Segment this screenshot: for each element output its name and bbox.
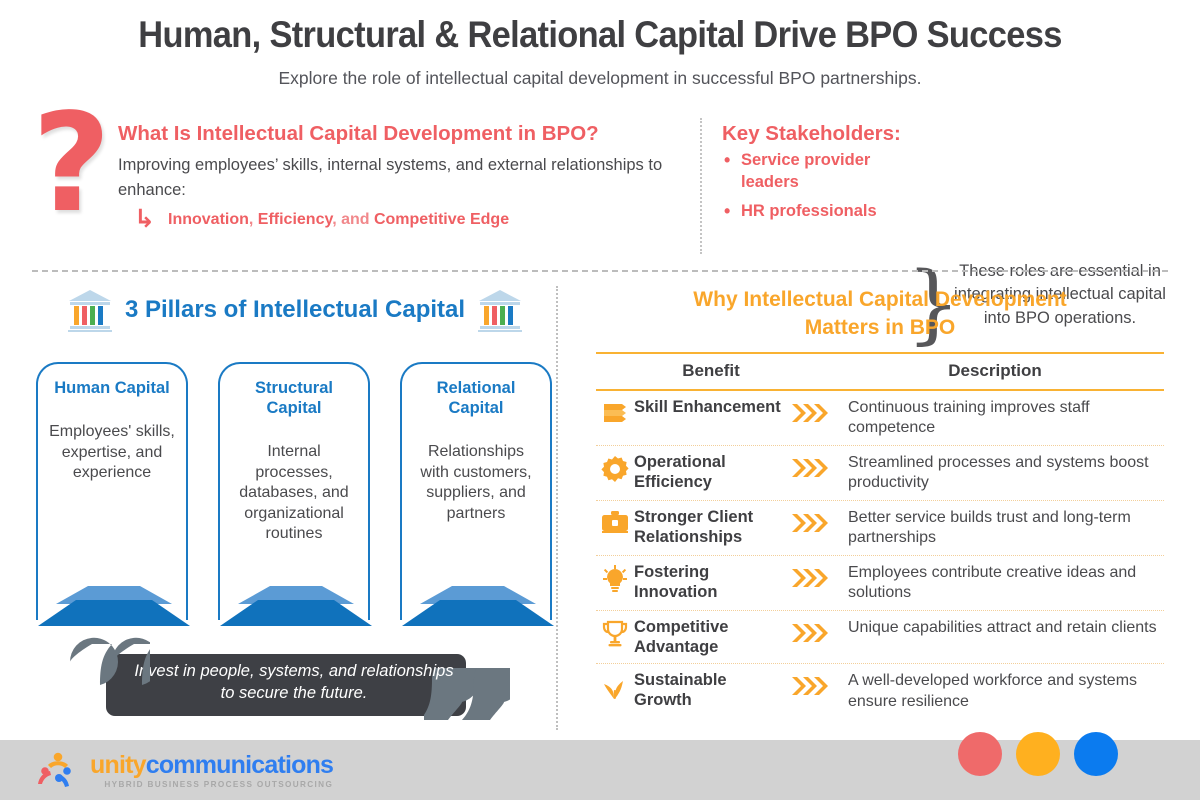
column-header-description: Description <box>948 361 1042 380</box>
pillar-card-structural[interactable]: Structural Capital Internal processes, d… <box>218 362 370 620</box>
quote-text: Invest in people, systems, and relations… <box>134 660 454 705</box>
outcome-sep-1: , <box>249 211 258 228</box>
pillar-body: Internal processes, databases, and organ… <box>230 442 358 544</box>
what-is-icd-body: Improving employees’ skills, internal sy… <box>118 153 698 203</box>
table-row[interactable]: Sustainable Growth A well-developed work… <box>596 664 1164 718</box>
intro-outcomes: ↳Innovation, Efficiency, and Competitive… <box>118 211 698 229</box>
pillar-base-icon <box>212 574 380 626</box>
outcome-sep-2: , and <box>332 211 374 228</box>
what-is-icd-heading: What Is Intellectual Capital Development… <box>118 122 698 146</box>
outcome-competitive-edge: Competitive Edge <box>374 211 509 228</box>
bank-temple-icon <box>66 288 114 332</box>
footer-dot-blue <box>1074 732 1118 776</box>
sprout-icon <box>596 671 634 706</box>
chevron-triple-right-icon <box>784 508 840 537</box>
pillar-title: Human Capital <box>48 378 176 398</box>
gear-icon <box>596 453 634 488</box>
what-is-icd-block: What Is Intellectual Capital Development… <box>118 122 698 229</box>
outcome-efficiency: Efficiency <box>258 211 332 228</box>
footer-dots <box>958 732 1118 776</box>
chevron-triple-right-icon <box>784 618 840 647</box>
chevron-triple-right-icon <box>784 671 840 700</box>
key-stakeholders-list: Service provider leaders HR professional… <box>722 150 932 222</box>
benefit-description: Streamlined processes and systems boost … <box>840 453 1164 494</box>
benefit-description: Unique capabilities attract and retain c… <box>840 618 1164 638</box>
trophy-icon <box>596 618 634 653</box>
lightbulb-icon <box>596 563 634 598</box>
outcome-innovation: Innovation <box>168 211 249 228</box>
benefit-description: A well-developed workforce and systems e… <box>840 671 1164 712</box>
benefit-label: Stronger Client Relationships <box>634 508 784 548</box>
bank-temple-icon <box>476 288 524 332</box>
footer-dot-orange <box>1016 732 1060 776</box>
table-row[interactable]: Fostering Innovation Employees contribut… <box>596 556 1164 611</box>
briefcase-icon <box>596 508 634 539</box>
benefits-heading: Why Intellectual Capital Development Mat… <box>592 286 1168 343</box>
pillar-card-relational[interactable]: Relational Capital Relationships with cu… <box>400 362 552 620</box>
books-icon <box>596 398 634 431</box>
table-row[interactable]: Skill Enhancement Continuous training im… <box>596 391 1164 446</box>
chevron-triple-right-icon <box>784 398 840 427</box>
list-item: Service provider leaders <box>722 150 932 194</box>
pillar-body: Employees' skills, expertise, and experi… <box>48 422 176 483</box>
benefit-label: Sustainable Growth <box>634 671 784 711</box>
benefits-heading-line1: Why Intellectual Capital Development <box>592 286 1168 314</box>
logo-tagline: HYBRID BUSINESS PROCESS OUTSOURCING <box>90 780 333 789</box>
chevron-triple-right-icon <box>784 453 840 482</box>
page-subtitle: Explore the role of intellectual capital… <box>0 68 1200 89</box>
pillar-card-human[interactable]: Human Capital Employees' skills, experti… <box>36 362 188 620</box>
intro-vertical-divider <box>700 118 702 254</box>
benefit-description: Better service builds trust and long-ter… <box>840 508 1164 549</box>
unity-communications-logo[interactable]: unitycommunications HYBRID BUSINESS PROC… <box>36 752 333 790</box>
pillar-title: Structural Capital <box>230 378 358 418</box>
key-stakeholders-block: Key Stakeholders: Service provider leade… <box>722 122 932 229</box>
pillar-title: Relational Capital <box>412 378 540 418</box>
pillar-base-icon <box>30 574 198 626</box>
pillar-base-icon <box>394 574 562 626</box>
benefit-label: Skill Enhancement <box>634 398 784 418</box>
logo-brand-unity: unity <box>90 751 146 779</box>
chevron-triple-right-icon <box>784 563 840 592</box>
page-header: Human, Structural & Relational Capital D… <box>0 14 1200 89</box>
benefit-description: Employees contribute creative ideas and … <box>840 563 1164 604</box>
table-row[interactable]: Stronger Client Relationships Better ser… <box>596 501 1164 556</box>
quote-block: Invest in people, systems, and relations… <box>56 632 536 732</box>
benefits-table: Benefit Description Skill Enhancement Co… <box>596 352 1164 718</box>
pillar-body: Relationships with customers, suppliers,… <box>412 442 540 524</box>
list-item: HR professionals <box>722 201 932 223</box>
benefit-label: Competitive Advantage <box>634 618 784 658</box>
horizontal-divider <box>32 270 1168 272</box>
page-title: Human, Structural & Relational Capital D… <box>42 14 1158 57</box>
question-mark-icon: ? <box>32 116 118 242</box>
benefit-description: Continuous training improves staff compe… <box>840 398 1164 439</box>
table-column-headers: Benefit Description <box>596 354 1164 389</box>
quote-open-icon <box>64 632 150 696</box>
benefits-heading-line2: Matters in BPO <box>592 314 1168 342</box>
intro-band: ? What Is Intellectual Capital Developme… <box>0 112 1200 260</box>
main-vertical-divider <box>556 286 558 730</box>
key-stakeholders-heading: Key Stakeholders: <box>722 122 932 146</box>
benefit-label: Operational Efficiency <box>634 453 784 493</box>
column-header-benefit: Benefit <box>682 361 740 380</box>
arrow-hook-icon: ↳ <box>134 206 155 231</box>
table-row[interactable]: Competitive Advantage Unique capabilitie… <box>596 611 1164 665</box>
logo-brand-communications: communications <box>146 751 333 779</box>
pillars-heading: 3 Pillars of Intellectual Capital <box>125 296 465 324</box>
pillars-heading-row: 3 Pillars of Intellectual Capital <box>40 288 550 332</box>
benefit-label: Fostering Innovation <box>634 563 784 603</box>
table-row[interactable]: Operational Efficiency Streamlined proce… <box>596 446 1164 501</box>
pillar-cards: Human Capital Employees' skills, experti… <box>36 362 552 620</box>
unity-people-logo-icon <box>36 752 82 790</box>
footer-dot-red <box>958 732 1002 776</box>
